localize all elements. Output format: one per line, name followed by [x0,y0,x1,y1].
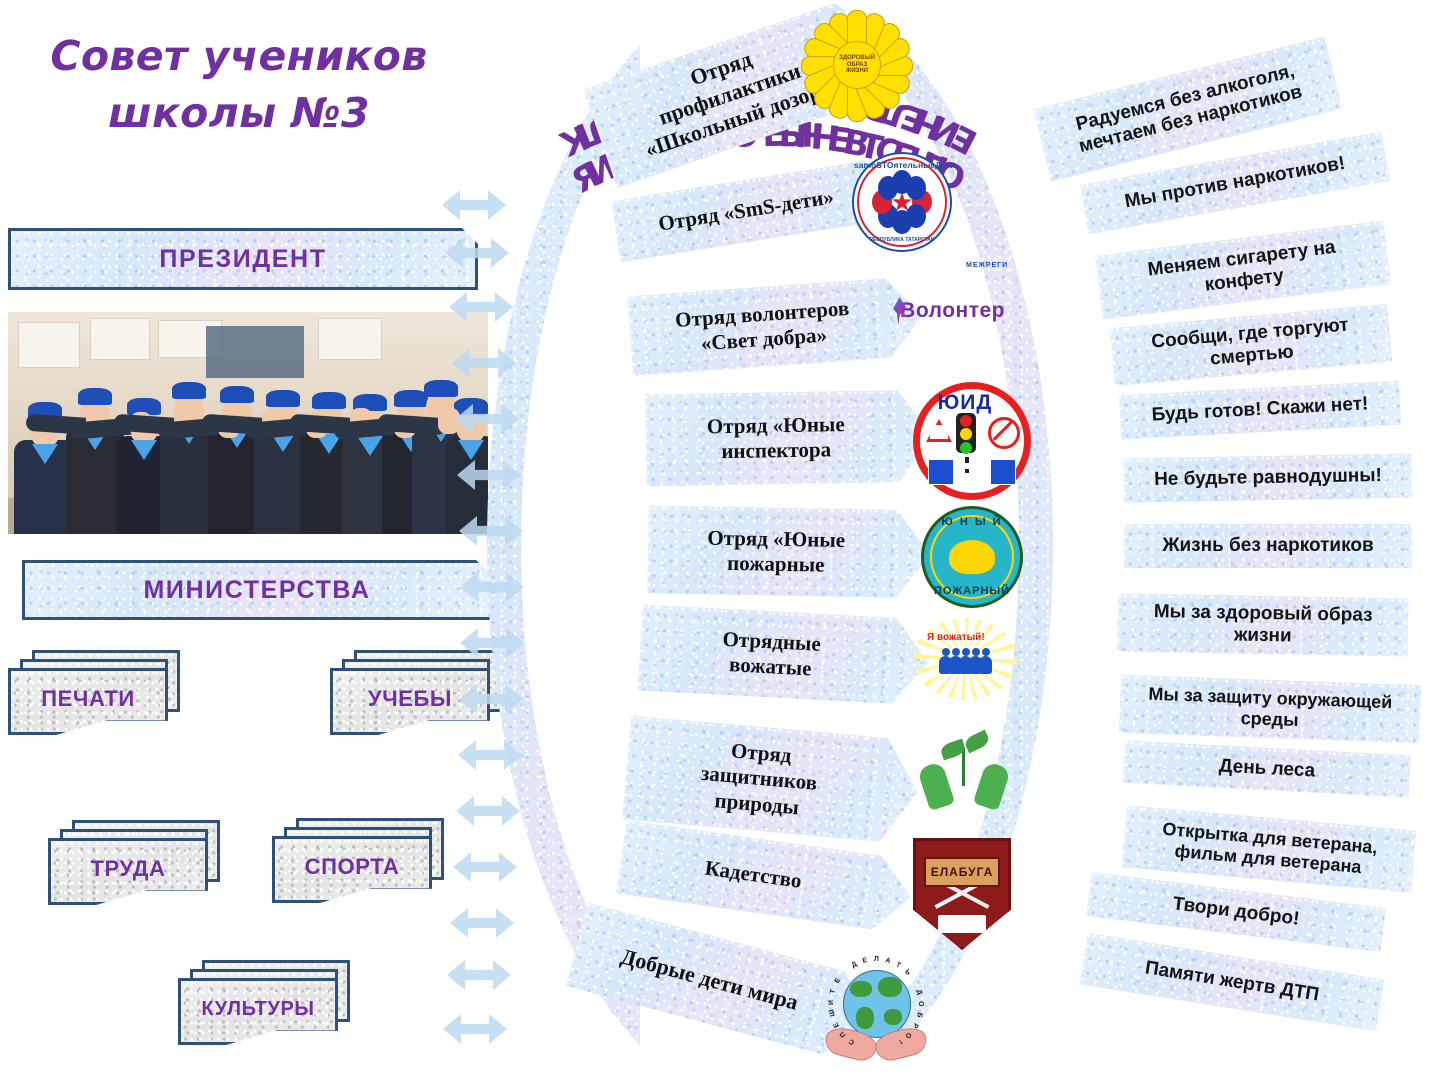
center-item-label: Добрые дети мира [618,943,801,1016]
ministry-label: ПЕЧАТИ [8,668,168,730]
ministry-label: КУЛЬТУРЫ [178,978,338,1040]
globe-arc-char: Т [895,961,902,969]
crosswalk-sign-icon [990,459,1016,485]
globe-arc-char: П [839,1030,848,1038]
center-item-label: Отряд «SmS-дети» [657,185,836,238]
right-slogan-label: Твори добро! [1171,893,1300,931]
samostoyatelnye-deti-logo: samoSTOятельныеДети ★ РЕСПУБЛИКА ТАТАРСТ… [852,152,952,252]
ministry-label: ТРУДА [48,838,208,900]
volonter-logo: Волонтер [893,292,1005,330]
globe-arc-caption: СПЕШИТЕ ДЕЛАТЬ ДОБРО! [821,948,931,1058]
ministry-card-5[interactable]: КУЛЬТУРЫ [178,960,350,1045]
double-arrow-icon [443,1014,507,1044]
president-box[interactable]: ПРЕЗИДЕНТ [8,228,478,290]
right-slogan-7[interactable]: Жизнь без наркотиков [1124,524,1412,568]
right-slogan-8[interactable]: Мы за здоровый образжизни [1118,593,1409,656]
globe-arc-char: Т [829,989,837,995]
globe-arc-char: ! [897,1038,903,1045]
globe-arc-char: Р [911,1022,919,1029]
right-slogan-label: Меняем сигарету наконфету [1147,236,1340,304]
ministry-label: СПОРТА [272,836,432,898]
globe-arc-char: Е [833,1021,841,1028]
right-slogan-9[interactable]: Мы за защиту окружающейсреды [1119,675,1421,743]
deti-bottom-label: РЕСПУБЛИКА ТАТАРСТАН [854,237,950,243]
right-slogan-label: Не будьте равнодушны! [1154,465,1382,491]
globe-arc-char: О [917,1001,924,1007]
center-item-label: Отрядныевожатые [721,627,822,682]
deti-top-label: samoSTOятельныеДети [854,160,950,170]
book-icon [938,915,986,933]
double-arrow-icon [442,190,506,220]
ministry-label: УЧЕБЫ [330,668,490,730]
globe-arc-char: И [828,1000,835,1005]
right-slogan-label: Открытка для ветерана,фильм для ветерана [1160,818,1379,879]
page-title-line2: школы №3 [24,85,454,142]
petal-shape [906,176,926,200]
right-slogan-label: Памяти жертв ДТП [1143,957,1320,1007]
pedestrian-sign-icon [928,459,954,485]
mezhregi-caption: МЕЖРЕГИ [966,262,1008,269]
globe-arc-char: Ь [903,968,911,977]
ministry-card-2[interactable]: УЧЕБЫ [330,650,502,735]
students-group-photo [8,312,488,534]
volonter-label: Волонтер [900,299,1005,323]
ya-vozhatiy-logo: Я вожатый! [913,618,1017,700]
center-item-3[interactable]: Отряд волонтеров«Свет добра» [628,276,925,376]
globe-arc-char: Е [862,957,868,965]
double-arrow-icon [450,908,514,938]
hand-left-icon [917,761,955,811]
ministry-card-4[interactable]: СПОРТА [272,818,444,903]
right-slogan-label: Мы против наркотиков! [1123,153,1347,214]
young-firefighter-logo: Ю Н Ы Й ПОЖАРНЫЙ [921,506,1023,608]
center-item-label: Отряд «Юныеинспектора [707,412,846,465]
helmet-icon [949,540,995,574]
hand-right-icon [973,761,1011,811]
center-item-7[interactable]: Отрядзащитниковприроды [622,715,922,844]
uid-road-inspectors-logo: ЮИД [913,382,1031,500]
right-slogan-label: Сообщи, где торгуютсмертью [1151,314,1352,376]
globe-arc-char: О [904,1031,913,1040]
globe-arc-char: Б [915,1012,923,1019]
ministries-box[interactable]: МИНИСТЕРСТВА [22,560,492,620]
center-item-label: Отряд «Юныепожарные [707,525,846,578]
center-item-4[interactable]: Отряд «Юныеинспектора [645,390,933,487]
dobrye-deti-mira-globe-logo: СПЕШИТЕ ДЕЛАТЬ ДОБРО! [821,948,931,1060]
double-arrow-icon [456,796,520,826]
vozhatiy-label: Я вожатый! [927,632,985,643]
globe-arc-char: Ш [828,1009,836,1017]
uid-label: ЮИД [920,391,1010,415]
page-title-line1: Совет учеников [24,28,454,85]
right-slogan-10[interactable]: День леса [1123,741,1411,798]
zozh-core-label: ЗДОРОВЫЙОБРАЗЖИЗНИ [833,41,881,89]
globe-arc-char: С [848,1037,856,1046]
warning-sign-icon [926,419,952,442]
center-item-label: Отрядзащитниковприроды [698,736,821,821]
right-slogan-4[interactable]: Сообщи, где торгуютсмертью [1110,304,1392,386]
double-arrow-icon [453,852,517,882]
globe-arc-char: А [885,957,892,965]
no-pedestrian-icon [988,417,1020,449]
president-label: ПРЕЗИДЕНТ [159,245,326,274]
right-slogan-11[interactable]: Открытка для ветерана,фильм для ветерана [1122,805,1416,892]
center-item-label: Отряд волонтеров«Свет добра» [674,296,851,358]
ministry-card-3[interactable]: ТРУДА [48,820,220,905]
thumb-fist [438,408,460,434]
right-slogan-label: Мы за защиту окружающейсреды [1147,684,1392,735]
globe-arc-char: Е [834,977,842,985]
student-figure [446,382,488,534]
fire-top-label: Ю Н Ы Й [924,516,1020,528]
ministries-label: МИНИСТЕРСТВА [143,576,370,605]
center-item-label: Кадетство [703,856,803,894]
ministry-card-1[interactable]: ПЕЧАТИ [8,650,180,735]
right-slogan-label: Радуемся без алкоголя,мечтаем без наркот… [1071,60,1304,159]
zozh-sun-logo: ЗДОРОВЫЙОБРАЗЖИЗНИ [800,8,912,120]
page-title: Совет учеников школы №3 [24,28,454,141]
traffic-light-icon [956,413,976,453]
right-slogan-6[interactable]: Не будьте равнодушны! [1124,453,1413,502]
double-arrow-icon [447,960,511,990]
center-item-6[interactable]: Отрядныевожатые [638,605,930,706]
right-slogan-label: Мы за здоровый образжизни [1153,601,1373,650]
globe-arc-char: Д [851,961,859,970]
right-slogan-3[interactable]: Меняем сигарету наконфету [1095,221,1391,320]
right-slogan-label: Жизнь без наркотиков [1162,535,1373,557]
nature-protection-hands-logo [921,730,1007,808]
elabuga-label: ЕЛАБУГА [924,857,1000,887]
right-slogan-13[interactable]: Памяти жертв ДТП [1080,933,1384,1031]
globe-arc-char: Л [874,956,879,963]
infographic-canvas: Совет учеников школы №3 ПРЕЗИДЕНТ МИНИСТ… [0,0,1454,1090]
right-slogan-label: Будь готов! Скажи нет! [1151,393,1369,427]
right-slogan-label: День леса [1218,755,1315,782]
globe-arc-char: Д [915,989,923,996]
center-item-5[interactable]: Отряд «Юныепожарные [647,506,930,599]
right-slogan-5[interactable]: Будь готов! Скажи нет! [1119,381,1401,440]
people-chain-icon [939,648,993,674]
fire-bottom-label: ПОЖАРНЫЙ [924,585,1020,597]
